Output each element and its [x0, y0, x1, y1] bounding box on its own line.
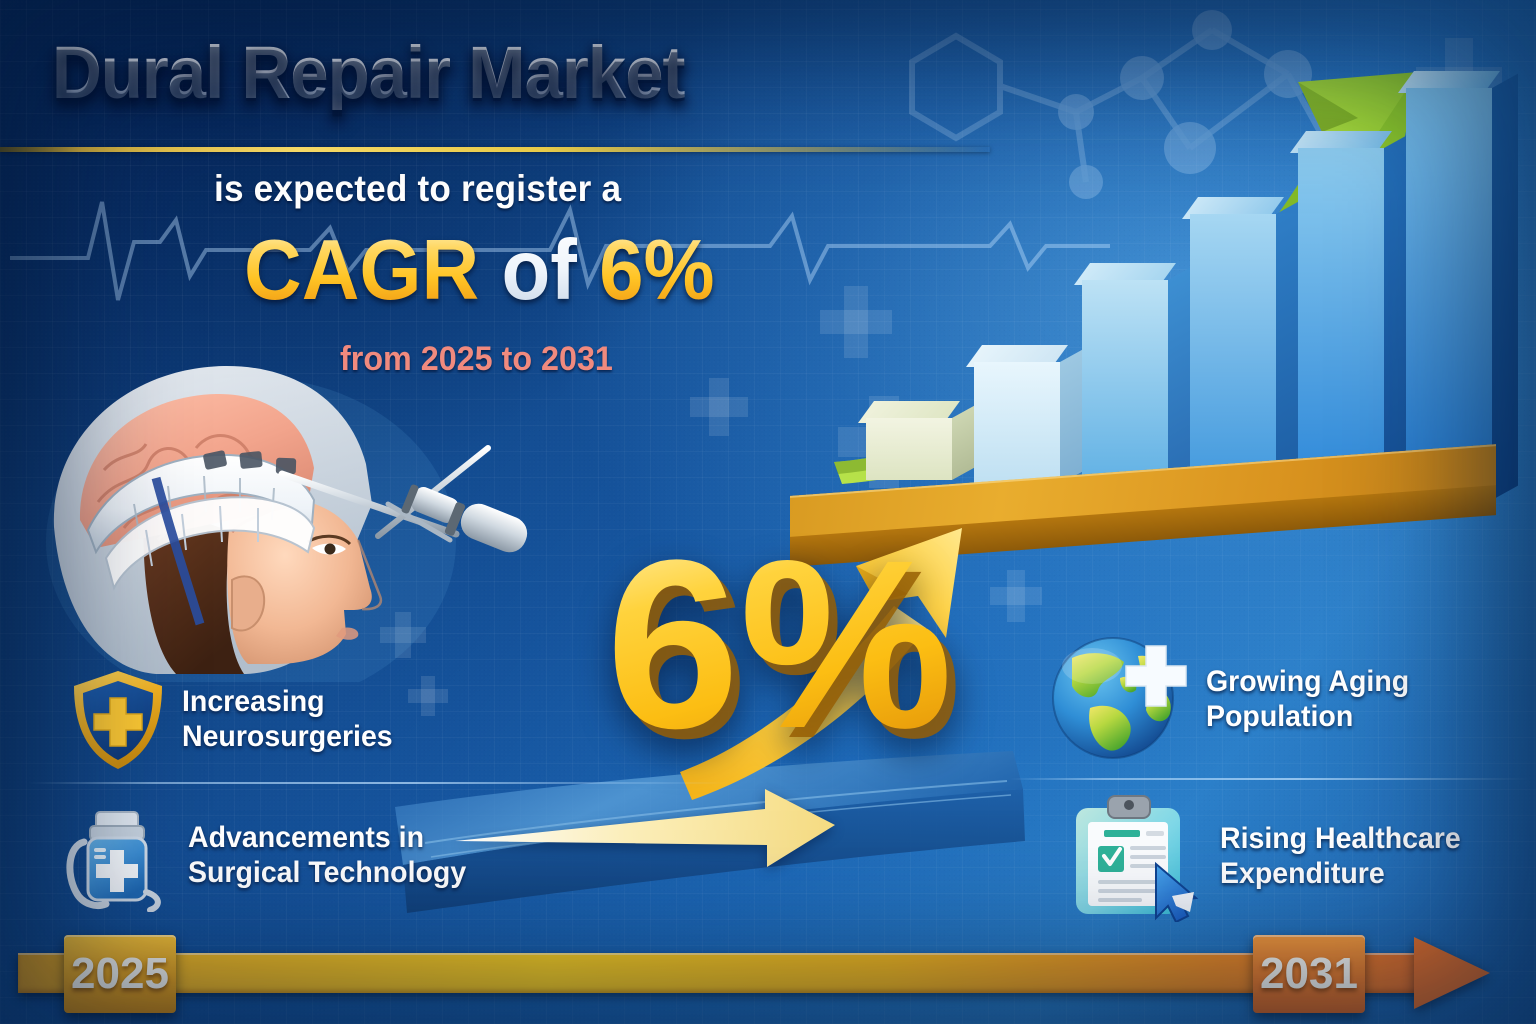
bar-front-face [974, 362, 1060, 484]
globe-medical-icon [1050, 632, 1190, 768]
timeline-start-year: 2025 [64, 935, 176, 1013]
driver-label: Advancements in Surgical Technology [188, 821, 466, 891]
bar-front-face [1190, 214, 1276, 492]
bar-side-face [1492, 74, 1518, 500]
driver-advancements-surgical-technology[interactable]: Advancements in Surgical Technology [62, 800, 481, 912]
cagr-value: 6% [599, 223, 714, 318]
cagr-label: CAGR [244, 223, 479, 318]
driver-label: Increasing Neurosurgeries [182, 685, 393, 755]
surgical-device-icon [62, 800, 172, 912]
chart-bar [974, 362, 1060, 484]
cagr-connector: of [479, 223, 599, 318]
shield-cross-icon [70, 668, 166, 772]
cagr-3d-figure: 6% [600, 520, 1020, 820]
driver-growing-aging-population[interactable]: Growing Aging Population [1050, 632, 1420, 768]
infographic-canvas: Dural Repair Market is expected to regis… [0, 0, 1536, 1024]
timeline: 2025 2031 [18, 935, 1518, 1007]
chart-bar [1406, 88, 1492, 500]
timeline-arrowhead-icon [1414, 937, 1490, 1009]
chart-bar [1190, 214, 1276, 492]
chart-bar [1082, 280, 1168, 488]
driver-increasing-neurosurgeries[interactable]: Increasing Neurosurgeries [70, 668, 404, 772]
bar-front-face [1082, 280, 1168, 488]
brain-dural-repair-illustration [36, 352, 536, 682]
subtitle-line: is expected to register a [214, 168, 822, 210]
bullet-divider-right [1010, 778, 1530, 780]
medical-cross-watermark [408, 676, 448, 716]
medical-cross-watermark [690, 378, 748, 436]
bullet-divider-left [28, 782, 728, 784]
cagr-number: 6% [606, 524, 953, 764]
timeline-bar [18, 953, 1420, 993]
driver-label: Rising Healthcare Expenditure [1220, 822, 1461, 892]
chart-bar [1298, 148, 1384, 496]
timeline-end-year: 2031 [1253, 935, 1365, 1013]
driver-rising-healthcare-expenditure[interactable]: Rising Healthcare Expenditure [1064, 792, 1473, 922]
driver-label: Growing Aging Population [1206, 665, 1409, 735]
bar-front-face [1406, 88, 1492, 500]
clipboard-check-icon [1064, 792, 1204, 922]
bar-front-face [1298, 148, 1384, 496]
page-title: Dural Repair Market [52, 36, 815, 110]
